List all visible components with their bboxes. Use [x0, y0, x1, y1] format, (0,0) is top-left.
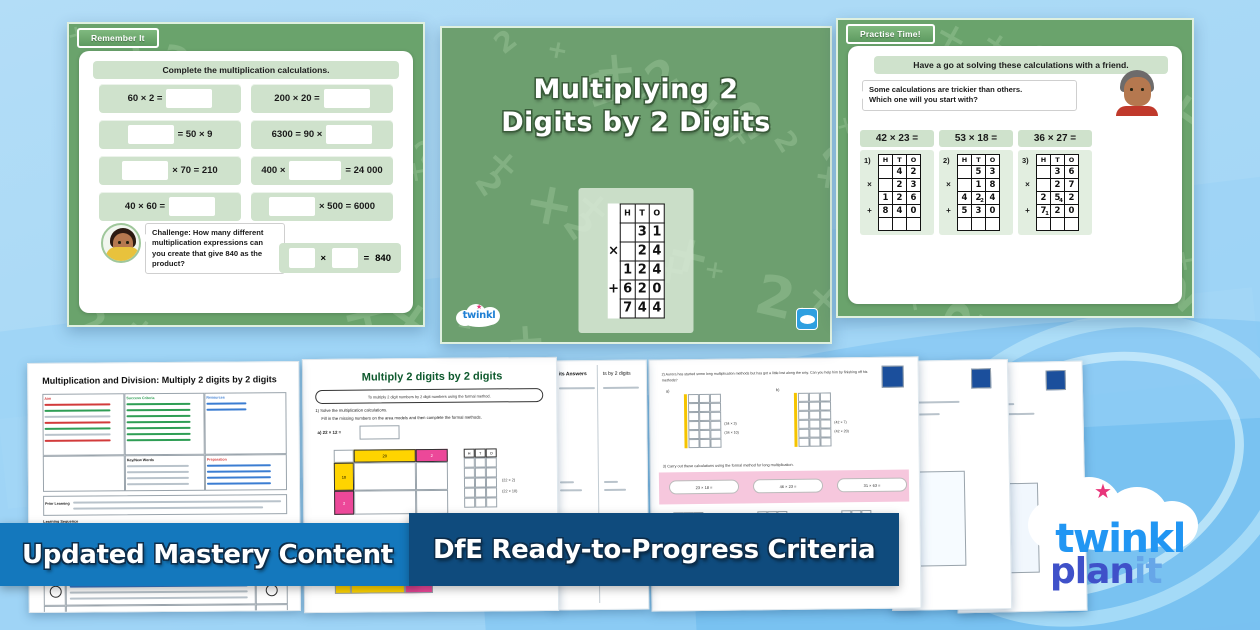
digit-cell[interactable] [958, 218, 972, 231]
digit-cell[interactable] [907, 218, 921, 231]
sub-question-label: a) [666, 388, 670, 393]
row-operator: × [607, 242, 620, 261]
digit-cell [620, 223, 635, 242]
practise-body: 3)×+HTO362725427120 [1018, 150, 1092, 235]
column-header: O [986, 155, 1000, 166]
digit-cell[interactable]: 8 [986, 179, 1000, 192]
document-box [334, 450, 354, 463]
calculation-text: 400 × [261, 165, 285, 176]
calculation-row: × 500 = 6000 [251, 192, 393, 221]
column-header: H [464, 449, 475, 458]
column-header: T [475, 449, 486, 458]
sub-question-label: b) [776, 387, 780, 392]
banner-left-label: Updated Mastery Content [22, 540, 393, 570]
document-annotation: (42 × 7) [834, 420, 847, 424]
practise-speech-line-1: Some calculations are trickier than othe… [869, 85, 1070, 95]
digit-cell[interactable] [1037, 179, 1051, 192]
slide-remember-it[interactable]: ×2+×2×2+×2×+2×2+×2×2+×2×+2 Remember It C… [67, 22, 425, 327]
digit-cell: 2 [635, 242, 650, 261]
digit-cell[interactable] [958, 166, 972, 179]
remember-instruction: Complete the multiplication calculations… [93, 61, 399, 79]
calculation-row: × 70 = 210 [99, 156, 241, 185]
digit-cell[interactable] [1037, 166, 1051, 179]
digit-cell[interactable]: 1 [972, 179, 986, 192]
carry-digit: 2 [980, 198, 984, 204]
operator-spacer [607, 204, 620, 223]
document-box [809, 393, 820, 402]
digit-cell[interactable]: 0 [1065, 205, 1079, 218]
table-row: 36 [1037, 166, 1079, 179]
slide-practise-time[interactable]: +×2×2+×2×+2×2+×2×2+×2×+2×2 Practise Time… [836, 18, 1194, 318]
document-annotation: (22 × 10) [502, 489, 517, 493]
title-line-2: Digits by 2 Digits [442, 107, 830, 140]
table-row: 31 [607, 223, 664, 242]
document-box [809, 429, 820, 438]
document-question-detail: Fill in the missing numbers on the area … [321, 415, 481, 421]
document-box [820, 428, 831, 437]
document-box [809, 411, 820, 420]
document-box [464, 468, 475, 478]
document-text-line [604, 481, 618, 483]
challenge-blank-1[interactable] [289, 248, 315, 268]
column-header: O [907, 155, 921, 166]
table-row: 27 [1037, 179, 1079, 192]
table-header-row: HTO [958, 155, 1000, 166]
document-box [699, 403, 710, 412]
area-model-row-2: 2 [334, 491, 354, 515]
document-text-line [560, 481, 574, 483]
digit-cell: 3 [635, 223, 650, 242]
tab-remember-it[interactable]: Remember It [77, 28, 159, 48]
digit-cell[interactable] [879, 166, 893, 179]
document-box [710, 394, 721, 403]
document-box [699, 394, 710, 403]
column-header: H [620, 204, 635, 223]
digit-cell[interactable]: 3 [986, 166, 1000, 179]
document-box [1046, 370, 1066, 390]
calculation-row: = 50 × 9 [99, 120, 241, 149]
answer-blank[interactable] [326, 125, 372, 144]
challenge-equals: = [364, 253, 370, 264]
row-operator: + [1025, 204, 1030, 217]
document-box [43, 455, 125, 492]
document-box [464, 488, 475, 498]
digit-cell[interactable]: 3 [907, 179, 921, 192]
document-section-heading: Success Criteria [126, 396, 154, 400]
document-box [475, 468, 486, 478]
table-row: 126 [879, 192, 921, 205]
digit-cell[interactable]: 2 [907, 166, 921, 179]
digit-cell: 4 [650, 242, 665, 261]
table-row: 53 [958, 166, 1000, 179]
calculation-text: 40 × 60 = [125, 201, 165, 212]
document-box [475, 458, 486, 468]
document-subtitle: To multiply 2 digit numbers by 2 digit n… [315, 388, 543, 404]
document-box [359, 425, 399, 439]
twinkl-badge-icon[interactable] [796, 308, 818, 330]
digit-cell[interactable]: 5 [958, 205, 972, 218]
digit-cell: 2 [635, 261, 650, 280]
digit-cell[interactable]: 5 [972, 166, 986, 179]
document-text-line [559, 387, 595, 389]
calculation-row: 40 × 60 = [99, 192, 241, 221]
pupil-avatar [101, 223, 141, 263]
calculation-row: 6300 = 90 × [251, 120, 393, 149]
column-header: O [486, 448, 497, 457]
column-header: H [879, 155, 893, 166]
practise-speech-bubble: Some calculations are trickier than othe… [862, 80, 1077, 111]
row-operator: + [946, 204, 951, 217]
challenge-product: 840 [375, 253, 391, 264]
digit-cell[interactable] [879, 179, 893, 192]
document-text-line [603, 387, 639, 389]
practise-left-gutter: 2)×+ [942, 154, 955, 230]
answer-blank[interactable] [269, 197, 315, 216]
document-box [486, 487, 497, 497]
table-row: ×24 [607, 242, 664, 261]
digit-cell[interactable] [879, 218, 893, 231]
challenge-operator: × [321, 253, 327, 264]
digit-cell: 2 [635, 280, 650, 299]
row-operator: × [867, 178, 872, 191]
document-box [798, 411, 809, 420]
document-title-fragment: ts by 2 digits [603, 371, 631, 377]
document-box [710, 412, 721, 421]
document-box [820, 419, 831, 428]
practise-white-panel: Have a go at solving these calculations … [848, 46, 1182, 304]
digit-cell[interactable]: 7 [1065, 179, 1079, 192]
digit-cell[interactable]: 4 [986, 192, 1000, 205]
brand-planit-pla: plan [1050, 551, 1134, 592]
highlight-bar [684, 394, 688, 448]
document-box [688, 403, 699, 412]
document-box [882, 366, 904, 388]
document-annotation: (42 × 20) [834, 429, 849, 433]
document-text-line [206, 408, 246, 410]
calculation-text: 60 × 2 = [128, 93, 163, 104]
document-box [354, 462, 416, 491]
brand-star-icon: ★ [1094, 479, 1112, 504]
digit-cell[interactable] [1037, 218, 1051, 231]
document-box [688, 394, 699, 403]
document-box [688, 421, 699, 430]
digit-cell[interactable]: 2 [893, 192, 907, 205]
calculation-row: 60 × 2 = [99, 84, 241, 113]
digit-cell: 6 [620, 280, 635, 299]
digit-cell[interactable] [1065, 218, 1079, 231]
answer-blank[interactable] [169, 197, 215, 216]
practise-heading: 36 × 27 = [1018, 130, 1092, 147]
document-title-fragment: its Answers [559, 371, 587, 377]
document-section-heading: Prior Learning [45, 502, 70, 506]
document-box [464, 498, 475, 508]
document-box [416, 462, 448, 490]
document-paragraph: 2) Aurora has started some long multipli… [662, 370, 878, 384]
challenge-blank-2[interactable] [332, 248, 358, 268]
calculation-text: 6300 = 90 × [272, 129, 323, 140]
document-sub-question: a) 22 × 12 = [318, 430, 342, 435]
practise-left-gutter: 1)×+ [863, 154, 876, 230]
practise-body: 2)×+HTO53184224530 [939, 150, 1013, 235]
answer-blank[interactable] [166, 89, 212, 108]
practise-speech-line-2: Which one will you start with? [869, 95, 1070, 105]
practise-body: 1)×+HTO4223126840 [860, 150, 934, 235]
digit-cell[interactable]: 2 [1037, 192, 1051, 205]
column-header: T [972, 155, 986, 166]
digit-cell[interactable] [958, 179, 972, 192]
calculation-pill: 46 × 23 = [753, 479, 823, 494]
formal-method-table: HTO53184224530 [957, 154, 1000, 231]
document-section-heading: Preparation [207, 458, 227, 462]
calculation-text: × 70 = 210 [172, 165, 217, 176]
document-annotation: (34 × 3) [724, 422, 737, 426]
row-operator: + [607, 280, 620, 299]
document-box [475, 478, 486, 488]
digit-cell[interactable]: 4 [893, 166, 907, 179]
practise-column: 36 × 27 =3)×+HTO362725427120 [1018, 130, 1092, 235]
column-header: H [1037, 155, 1051, 166]
table-row: 7120 [1037, 205, 1079, 218]
digit-cell[interactable]: 2 [1065, 192, 1079, 205]
column-header: T [1051, 155, 1065, 166]
row-operator [607, 261, 620, 280]
document-box [798, 420, 809, 429]
calculation-pill: 31 × 63 = [837, 478, 907, 493]
table-row: 840 [879, 205, 921, 218]
document-text-line [604, 489, 626, 491]
challenge-equation: × = 840 [279, 243, 401, 273]
digit-cell[interactable] [972, 218, 986, 231]
digit-cell[interactable]: 0 [986, 205, 1000, 218]
digit-cell: 1 [650, 223, 665, 242]
document-box [820, 437, 831, 446]
practise-column: 53 × 18 =2)×+HTO53184224530 [939, 130, 1013, 235]
document-box [486, 497, 497, 507]
document-box [798, 438, 809, 447]
digit-cell[interactable]: 6 [1065, 166, 1079, 179]
document-box [688, 439, 699, 448]
answer-blank[interactable] [289, 161, 341, 180]
slide-title[interactable]: 2+×2×2+×2×+2×2+×2×2+×2×+2× Multiplying 2… [440, 26, 832, 344]
row-operator: × [946, 178, 951, 191]
digit-cell[interactable]: 4 [958, 192, 972, 205]
answer-blank[interactable] [122, 161, 168, 180]
document-box [710, 430, 721, 439]
digit-cell: 4 [650, 299, 665, 318]
digit-cell[interactable]: 0 [907, 205, 921, 218]
document-text-line [560, 489, 582, 491]
document-box [699, 412, 710, 421]
digit-cell[interactable]: 54 [1051, 192, 1065, 205]
teacher-avatar [1114, 70, 1160, 116]
document-box [688, 412, 699, 421]
document-box [475, 498, 486, 508]
area-model-col-1: 20 [354, 449, 416, 463]
column-header: T [635, 204, 650, 223]
column-header: O [650, 204, 665, 223]
document-box [820, 401, 831, 410]
table-row: 530 [958, 205, 1000, 218]
table-row [879, 218, 921, 231]
table-row: 42 [879, 166, 921, 179]
banner-updated-mastery: Updated Mastery Content [0, 523, 415, 586]
document-annotation: (34 × 10) [724, 431, 739, 435]
document-title: Multiplication and Division: Multiply 2 … [42, 374, 277, 386]
calculation-pill: 23 × 18 = [669, 480, 739, 495]
smiley-icon [50, 586, 62, 598]
column-header: O [1065, 155, 1079, 166]
digit-cell[interactable]: 3 [972, 205, 986, 218]
worked-example-plate: HTO31×24124+620744 [579, 188, 694, 333]
document-box [809, 438, 820, 447]
row-operator: + [867, 204, 872, 217]
document-box [798, 402, 809, 411]
table-row: 23 [879, 179, 921, 192]
answer-blank[interactable] [324, 89, 370, 108]
document-box [486, 467, 497, 477]
digit-cell [620, 242, 635, 261]
table-row: 2542 [1037, 192, 1079, 205]
formal-method-table: HTO362725427120 [1036, 154, 1079, 231]
document-section-heading: Key/New Words [127, 458, 154, 462]
table-row: 18 [958, 179, 1000, 192]
document-box [688, 430, 699, 439]
digit-cell[interactable]: 4 [893, 205, 907, 218]
document-text-line [127, 471, 189, 473]
table-row [1037, 218, 1079, 231]
challenge-block: Challenge: How many different multiplica… [101, 223, 285, 274]
title-line-1: Multiplying 2 [442, 74, 830, 107]
document-box [820, 410, 831, 419]
table-row [958, 218, 1000, 231]
document-box [809, 402, 820, 411]
area-model-col-2: 2 [416, 449, 448, 462]
document-box [354, 490, 416, 515]
document-section-heading: Aim [44, 397, 51, 401]
practise-heading: 42 × 23 = [860, 130, 934, 147]
digit-cell[interactable]: 3 [1051, 166, 1065, 179]
calculation-text: × 500 = 6000 [319, 201, 375, 212]
document-box [699, 439, 710, 448]
digit-cell: 1 [620, 261, 635, 280]
document-box [699, 430, 710, 439]
formal-method-table: HTO31×24124+620744 [607, 203, 665, 318]
calculation-row: 200 × 20 = [251, 84, 393, 113]
row-operator [607, 299, 620, 318]
document-question: 1) Solve the multiplication calculations… [315, 407, 387, 413]
remember-white-panel: Complete the multiplication calculations… [79, 51, 413, 313]
highlight-bar [794, 393, 798, 447]
digit-cell[interactable]: 2 [1051, 179, 1065, 192]
twinkl-planit-logo: ★ twinkl planit [1010, 473, 1230, 608]
brand-planit-it: it [1134, 551, 1162, 592]
worked-example-grid: HTO31×24124+620744 [607, 203, 665, 318]
document-box [416, 490, 448, 514]
practise-column: 42 × 23 =1)×+HTO4223126840 [860, 130, 934, 235]
calculation-text: = 24 000 [345, 165, 382, 176]
banner-right-label: DfE Ready-to-Progress Criteria [433, 535, 875, 565]
calculation-text: = 50 × 9 [178, 129, 213, 140]
column-header: H [958, 155, 972, 166]
carry-digit: 1 [1045, 211, 1049, 217]
digit-cell[interactable]: 2 [893, 179, 907, 192]
digit-cell: 4 [635, 299, 650, 318]
table-header-row: HTO [1037, 155, 1079, 166]
document-text-line [206, 402, 246, 404]
document-box [699, 421, 710, 430]
document-box [809, 420, 820, 429]
resource-icon [266, 584, 278, 596]
question-number: 2) [943, 154, 954, 165]
document-box [710, 403, 721, 412]
digit-cell: 7 [620, 299, 635, 318]
table-header-row: HTO [607, 204, 664, 223]
tab-practise-time[interactable]: Practise Time! [846, 24, 935, 44]
column-header: T [893, 155, 907, 166]
document-box [710, 421, 721, 430]
title-wrapper: Multiplying 2 Digits by 2 Digits [442, 74, 830, 140]
document-box [798, 393, 809, 402]
document-paragraph: 3) Carry out these calculations using th… [663, 463, 794, 469]
digit-cell[interactable] [1051, 218, 1065, 231]
carry-digit: 4 [1059, 198, 1063, 204]
practise-left-gutter: 3)×+ [1021, 154, 1034, 230]
digit-cell: 4 [650, 261, 665, 280]
brand-planit-label: planit [1050, 551, 1162, 592]
document-section-heading: Resources [206, 396, 224, 400]
question-number: 1) [864, 154, 875, 165]
banner-row: Updated Mastery Content DfE Ready-to-Pro… [0, 523, 899, 586]
calculation-text: 200 × 20 = [274, 93, 319, 104]
digit-cell[interactable]: 22 [972, 192, 986, 205]
digit-cell[interactable]: 2 [1051, 205, 1065, 218]
document-text-line [127, 465, 189, 467]
area-model-row-1: 10 [334, 463, 354, 491]
document-box [820, 392, 831, 401]
practise-columns: 42 × 23 =1)×+HTO422312684053 × 18 =2)×+H… [860, 130, 1092, 235]
digit-cell[interactable]: 6 [907, 192, 921, 205]
practise-heading: 53 × 18 = [939, 130, 1013, 147]
digit-cell[interactable] [986, 218, 1000, 231]
document-box [43, 494, 287, 516]
formal-method-table: HTO4223126840 [878, 154, 921, 231]
answer-blank[interactable] [128, 125, 174, 144]
document-box [971, 368, 991, 388]
document-title: Multiply 2 digits by 2 digits [317, 370, 547, 384]
document-box [710, 439, 721, 448]
digit-cell[interactable]: 1 [879, 192, 893, 205]
table-header-row: HTO [879, 155, 921, 166]
digit-cell[interactable]: 8 [879, 205, 893, 218]
remember-calculation-grid: 60 × 2 =200 × 20 == 50 × 96300 = 90 ×× 7… [99, 84, 393, 221]
digit-cell[interactable] [893, 218, 907, 231]
banner-dfe-criteria: DfE Ready-to-Progress Criteria [409, 513, 899, 586]
document-annotation: (22 × 2) [502, 478, 515, 482]
table-row: 4224 [958, 192, 1000, 205]
calculation-row: 400 ×= 24 000 [251, 156, 393, 185]
table-row: 124 [607, 261, 664, 280]
document-box [464, 478, 475, 488]
row-operator [607, 223, 620, 242]
document-box [486, 457, 497, 467]
twinkl-cloud-logo[interactable]: ★ twinkl [456, 302, 502, 328]
document-box [44, 606, 66, 613]
question-number: 3) [1022, 154, 1033, 165]
digit-cell[interactable]: 71 [1037, 205, 1051, 218]
table-row: +620 [607, 280, 664, 299]
document-box [798, 429, 809, 438]
row-operator: × [1025, 178, 1030, 191]
